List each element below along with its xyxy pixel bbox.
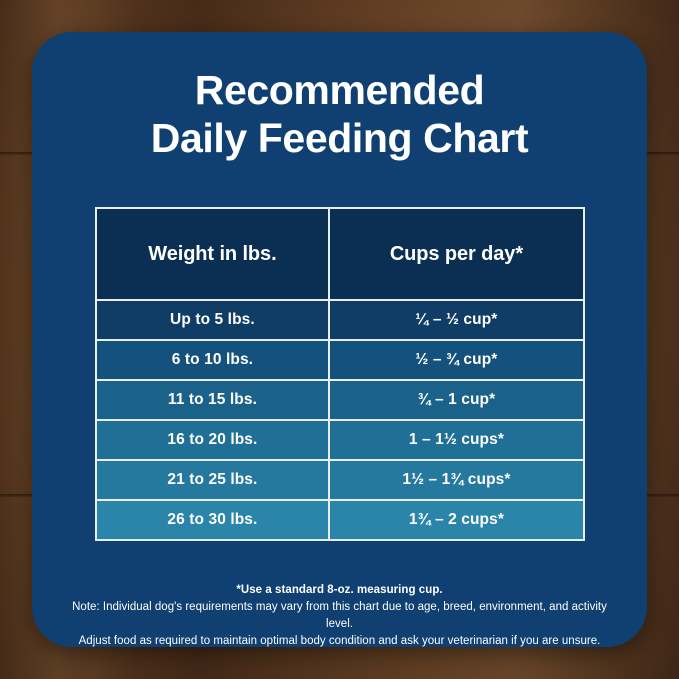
cell-weight: 6 to 10 lbs. (97, 339, 328, 379)
table-row: Up to 5 lbs. ¼ – ½ cup* (97, 299, 583, 339)
cell-cups: 1½ – 1¾ cups* (328, 459, 583, 499)
footnote-measuring-cup: *Use a standard 8-oz. measuring cup. (72, 584, 607, 596)
page-title: Recommended Daily Feeding Chart (32, 32, 647, 163)
cell-cups: ½ – ¾ cup* (328, 339, 583, 379)
footnote-note: Note: Individual dog's requirements may … (72, 599, 607, 633)
table-row: 21 to 25 lbs. 1½ – 1¾ cups* (97, 459, 583, 499)
cell-cups: 1 – 1½ cups* (328, 419, 583, 459)
page-title-line-2: Daily Feeding Chart (72, 114, 607, 162)
cell-weight: 26 to 30 lbs. (97, 499, 328, 539)
table-row: 11 to 15 lbs. ¾ – 1 cup* (97, 379, 583, 419)
cell-weight: 16 to 20 lbs. (97, 419, 328, 459)
table-row: 26 to 30 lbs. 1¾ – 2 cups* (97, 499, 583, 539)
cell-cups: ¾ – 1 cup* (328, 379, 583, 419)
cell-cups: 1¾ – 2 cups* (328, 499, 583, 539)
column-header-cups: Cups per day* (328, 209, 583, 299)
table-row: 16 to 20 lbs. 1 – 1½ cups* (97, 419, 583, 459)
feeding-chart-card: Recommended Daily Feeding Chart Weight i… (32, 32, 647, 647)
feeding-table: Weight in lbs. Cups per day* Up to 5 lbs… (95, 207, 585, 541)
cell-cups: ¼ – ½ cup* (328, 299, 583, 339)
column-header-weight: Weight in lbs. (97, 209, 328, 299)
table-header-row: Weight in lbs. Cups per day* (97, 209, 583, 299)
table-row: 6 to 10 lbs. ½ – ¾ cup* (97, 339, 583, 379)
table-body: Up to 5 lbs. ¼ – ½ cup* 6 to 10 lbs. ½ –… (97, 299, 583, 539)
footnotes: *Use a standard 8-oz. measuring cup. Not… (72, 584, 607, 650)
feeding-table-container: Weight in lbs. Cups per day* Up to 5 lbs… (95, 207, 585, 541)
footnote-adjust: Adjust food as required to maintain opti… (72, 633, 607, 650)
page-title-line-1: Recommended (72, 66, 607, 114)
cell-weight: Up to 5 lbs. (97, 299, 328, 339)
cell-weight: 11 to 15 lbs. (97, 379, 328, 419)
table-header: Weight in lbs. Cups per day* (97, 209, 583, 299)
cell-weight: 21 to 25 lbs. (97, 459, 328, 499)
